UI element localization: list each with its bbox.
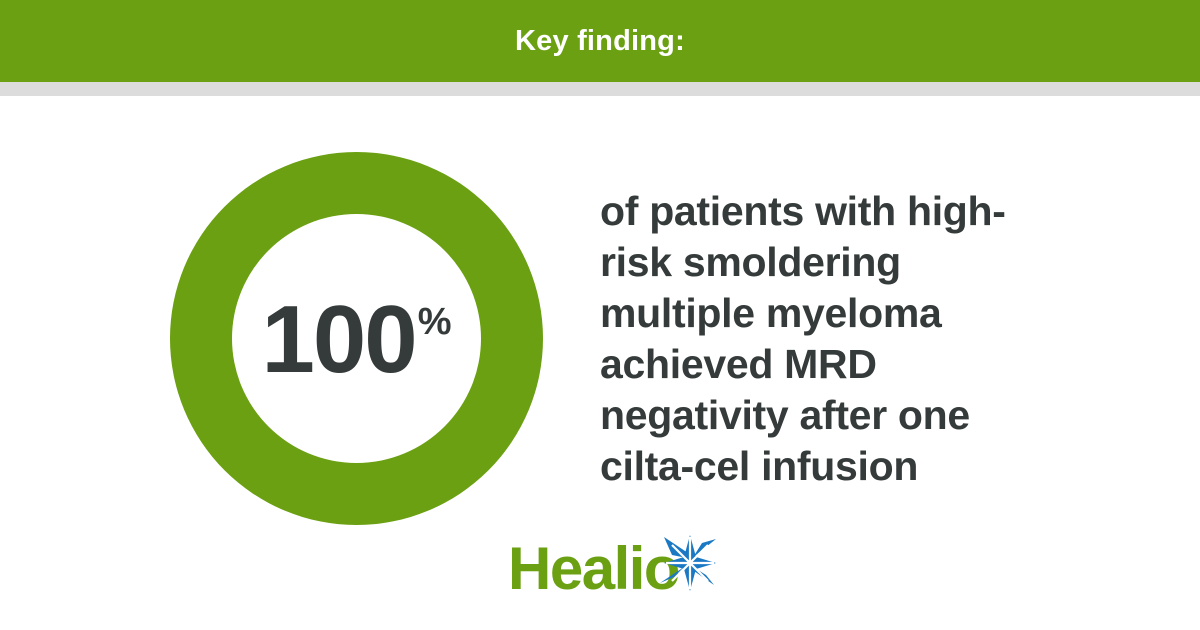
header-bar: Key finding:	[0, 0, 1200, 82]
header-divider	[0, 82, 1200, 96]
statement-text: of patients with high- risk smoldering m…	[600, 186, 1060, 492]
page-title: Key finding:	[515, 27, 685, 56]
statement-line: of patients with high-	[600, 186, 1060, 237]
healio-star-icon	[652, 533, 718, 593]
healio-logo: Healio	[508, 533, 718, 599]
statement-line: cilta-cel infusion	[600, 441, 1060, 492]
statement-line: achieved MRD	[600, 339, 1060, 390]
statement-line: negativity after one	[600, 390, 1060, 441]
statistic-number: 100	[262, 299, 416, 382]
statement-line: risk smoldering	[600, 237, 1060, 288]
statistic-unit: %	[418, 303, 452, 341]
donut-chart: 100 %	[170, 152, 543, 525]
donut-center-value: 100 %	[262, 299, 452, 382]
infographic-card: Key finding: 100 % of patients with high…	[0, 0, 1200, 630]
donut-center: 100 %	[232, 214, 481, 463]
statement-line: multiple myeloma	[600, 288, 1060, 339]
